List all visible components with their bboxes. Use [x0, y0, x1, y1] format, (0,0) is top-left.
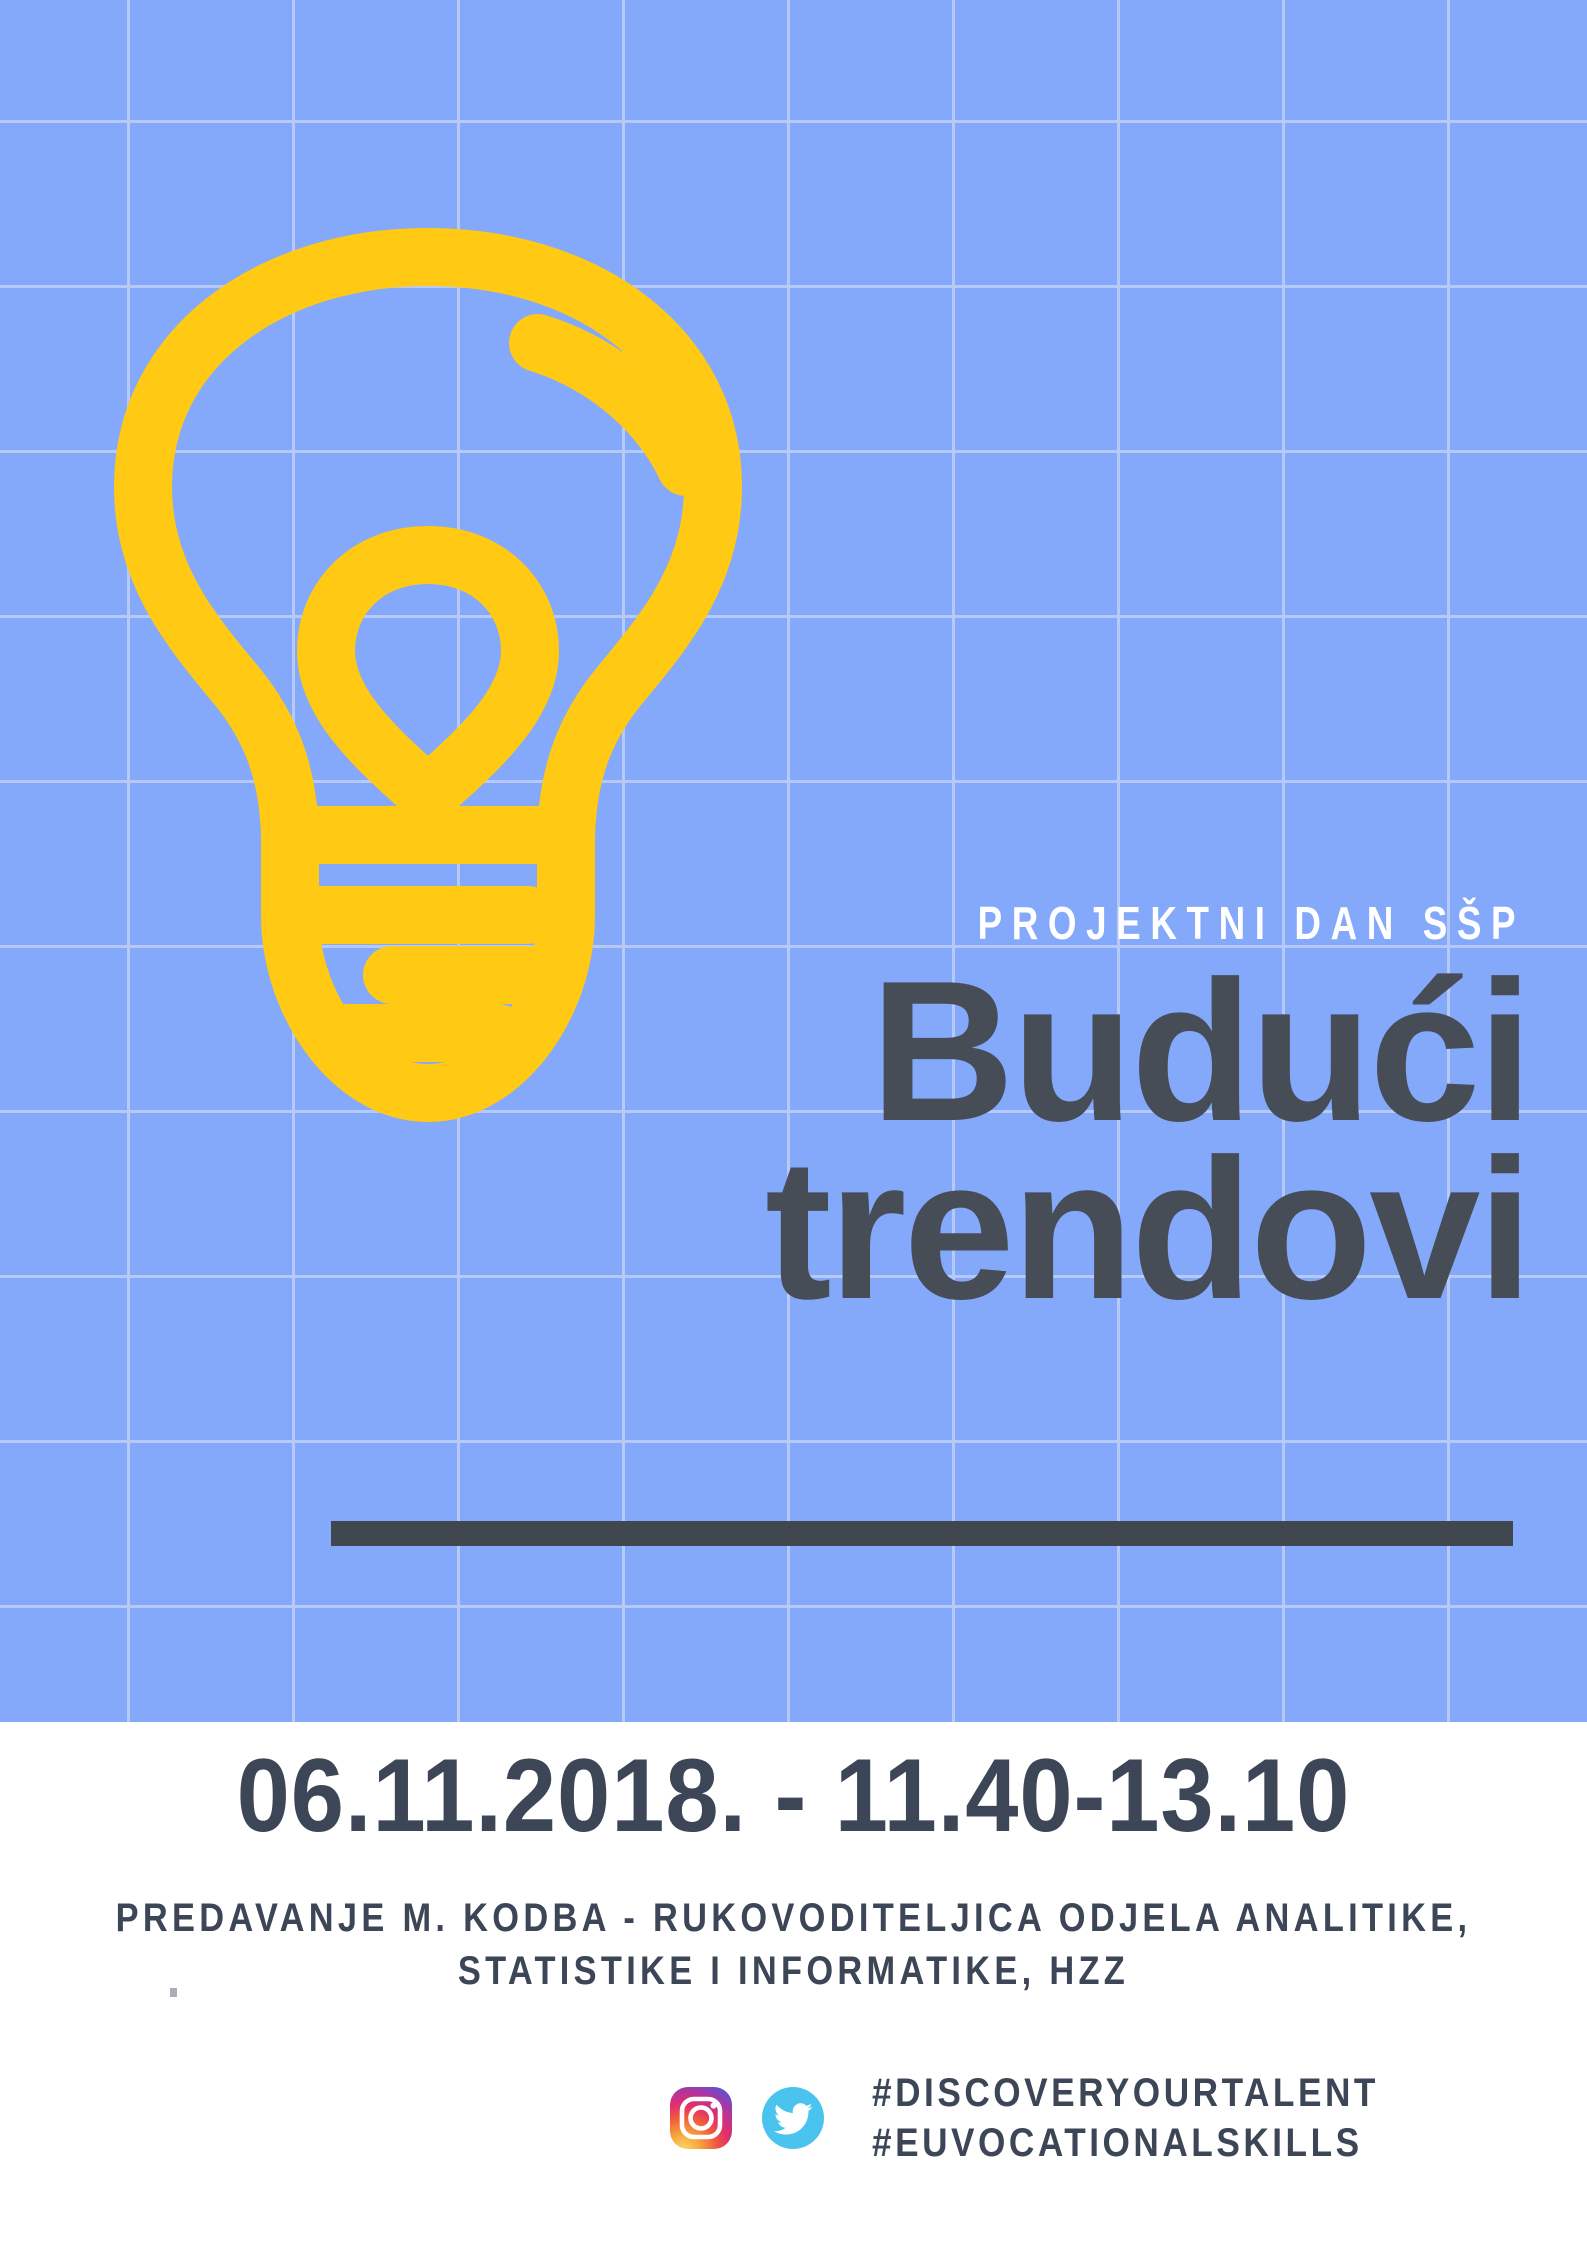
- event-datetime: 06.11.2018. - 11.40-13.10: [63, 1744, 1523, 1848]
- poster-canvas: PROJEKTNI DAN SŠP Budući trendovi 06.11.…: [0, 0, 1587, 2245]
- speaker-line-2: STATISTIKE I INFORMATIKE, HZZ: [111, 1945, 1476, 1998]
- title-underline-rule: [331, 1521, 1513, 1546]
- hashtag-euvocationalskills: #EUVOCATIONALSKILLS: [872, 2118, 1379, 2168]
- headline-block: PROJEKTNI DAN SŠP Budući trendovi: [300, 900, 1530, 1326]
- page-title-line-2: trendovi: [300, 1134, 1530, 1326]
- footer-social-block: #DISCOVERYOURTALENT #EUVOCATIONALSKILLS: [668, 2068, 1448, 2169]
- twitter-icon[interactable]: [760, 2085, 826, 2151]
- stray-dot-artifact: [170, 1988, 177, 1997]
- hashtag-discoveryourtalent: #DISCOVERYOURTALENT: [872, 2068, 1379, 2118]
- instagram-icon[interactable]: [668, 2085, 734, 2151]
- speaker-details: PREDAVANJE M. KODBA - RUKOVODITELJICA OD…: [0, 1892, 1587, 1998]
- eyebrow-text: PROJEKTNI DAN SŠP: [546, 900, 1530, 946]
- hashtag-list: #DISCOVERYOURTALENT #EUVOCATIONALSKILLS: [872, 2068, 1448, 2169]
- speaker-line-1: PREDAVANJE M. KODBA - RUKOVODITELJICA OD…: [111, 1892, 1476, 1945]
